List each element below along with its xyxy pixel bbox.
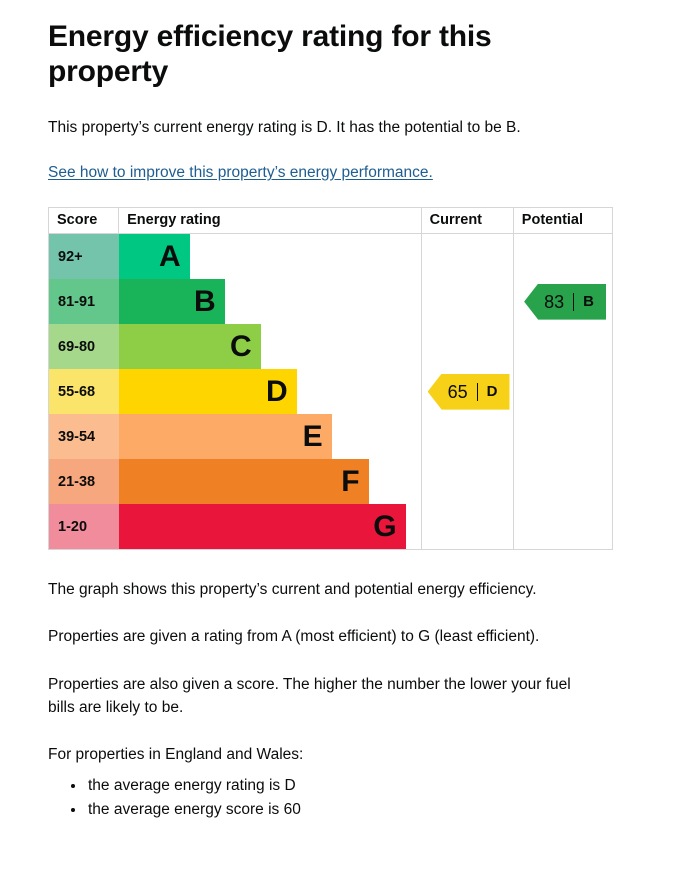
rating-bar-cell: E	[119, 414, 422, 459]
rating-bar-g: G	[119, 504, 406, 549]
potential-badge-score: 83	[544, 293, 564, 311]
score-range-cell: 69-80	[49, 324, 119, 369]
graph-description: The graph shows this property’s current …	[48, 550, 634, 601]
rating-band-row: 92+A	[49, 234, 613, 280]
rating-bar-letter: D	[266, 377, 288, 407]
column-header-potential: Potential	[513, 208, 612, 234]
rating-bar-letter: E	[303, 422, 323, 452]
potential-badge-band: B	[583, 294, 594, 309]
badge-separator	[477, 383, 478, 401]
list-item-average-score: the average energy score is 60	[86, 798, 634, 822]
badge-separator	[573, 293, 574, 311]
rating-bar-cell: G	[119, 504, 422, 550]
current-column-cell	[421, 414, 513, 459]
potential-column-cell	[513, 324, 612, 369]
rating-bar-e: E	[119, 414, 332, 459]
current-rating-badge-slot: 65D	[422, 369, 513, 414]
energy-rating-graph: Score Energy rating Current Potential 92…	[48, 207, 613, 550]
rating-bar-d: D	[119, 369, 297, 414]
rating-bar-cell: A	[119, 234, 422, 280]
current-column-cell	[421, 324, 513, 369]
current-column-cell	[421, 279, 513, 324]
score-range-cell: 39-54	[49, 414, 119, 459]
rating-bar-letter: F	[341, 467, 359, 497]
rating-bar-letter: C	[230, 332, 252, 362]
rating-bar-cell: B	[119, 279, 422, 324]
rating-bar-c: C	[119, 324, 261, 369]
rating-band-row: 81-91B83B	[49, 279, 613, 324]
score-range-cell: 1-20	[49, 504, 119, 550]
score-range-cell: 92+	[49, 234, 119, 280]
column-header-rating: Energy rating	[119, 208, 422, 234]
score-range-cell: 21-38	[49, 459, 119, 504]
rating-bar-letter: A	[159, 242, 181, 272]
potential-column-cell	[513, 414, 612, 459]
rating-bar-a: A	[119, 234, 190, 279]
column-header-current: Current	[421, 208, 513, 234]
score-range-cell: 81-91	[49, 279, 119, 324]
region-intro: For properties in England and Wales:	[48, 719, 634, 766]
current-rating-badge: 65D	[428, 374, 510, 410]
rating-bar-cell: D	[119, 369, 422, 414]
rating-band-row: 1-20G	[49, 504, 613, 550]
current-column-cell: 65D	[421, 369, 513, 414]
current-badge-band: D	[487, 384, 498, 399]
score-description: Properties are also given a score. The h…	[48, 649, 593, 720]
table-header-row: Score Energy rating Current Potential	[49, 208, 613, 234]
potential-column-cell	[513, 234, 612, 280]
rating-scale-description: Properties are given a rating from A (mo…	[48, 601, 634, 648]
rating-bar-cell: F	[119, 459, 422, 504]
score-range-cell: 55-68	[49, 369, 119, 414]
current-rating-summary: This property’s current energy rating is…	[48, 90, 634, 139]
potential-column-cell	[513, 369, 612, 414]
potential-rating-badge: 83B	[524, 284, 606, 320]
rating-band-row: 21-38F	[49, 459, 613, 504]
current-column-cell	[421, 234, 513, 280]
current-column-cell	[421, 504, 513, 550]
potential-column-cell	[513, 504, 612, 550]
rating-bar-letter: G	[373, 512, 396, 542]
rating-bar-letter: B	[194, 287, 216, 317]
list-item-average-rating: the average energy rating is D	[86, 774, 634, 798]
region-averages-list: the average energy rating is D the avera…	[48, 774, 634, 822]
potential-column-cell: 83B	[513, 279, 612, 324]
improve-energy-performance-link[interactable]: See how to improve this property’s energ…	[48, 164, 433, 181]
rating-bar-cell: C	[119, 324, 422, 369]
epc-page: Energy efficiency rating for this proper…	[0, 0, 682, 887]
page-title: Energy efficiency rating for this proper…	[48, 0, 518, 90]
rating-band-row: 55-68D65D	[49, 369, 613, 414]
column-header-score: Score	[49, 208, 119, 234]
improve-link-container: See how to improve this property’s energ…	[48, 139, 634, 184]
rating-band-row: 39-54E	[49, 414, 613, 459]
rating-band-rows: 92+A81-91B83B69-80C55-68D65D39-54E21-38F…	[49, 234, 613, 550]
current-badge-score: 65	[448, 383, 468, 401]
rating-bar-f: F	[119, 459, 369, 504]
rating-bar-b: B	[119, 279, 225, 324]
rating-band-row: 69-80C	[49, 324, 613, 369]
potential-column-cell	[513, 459, 612, 504]
current-column-cell	[421, 459, 513, 504]
potential-rating-badge-slot: 83B	[514, 279, 612, 324]
